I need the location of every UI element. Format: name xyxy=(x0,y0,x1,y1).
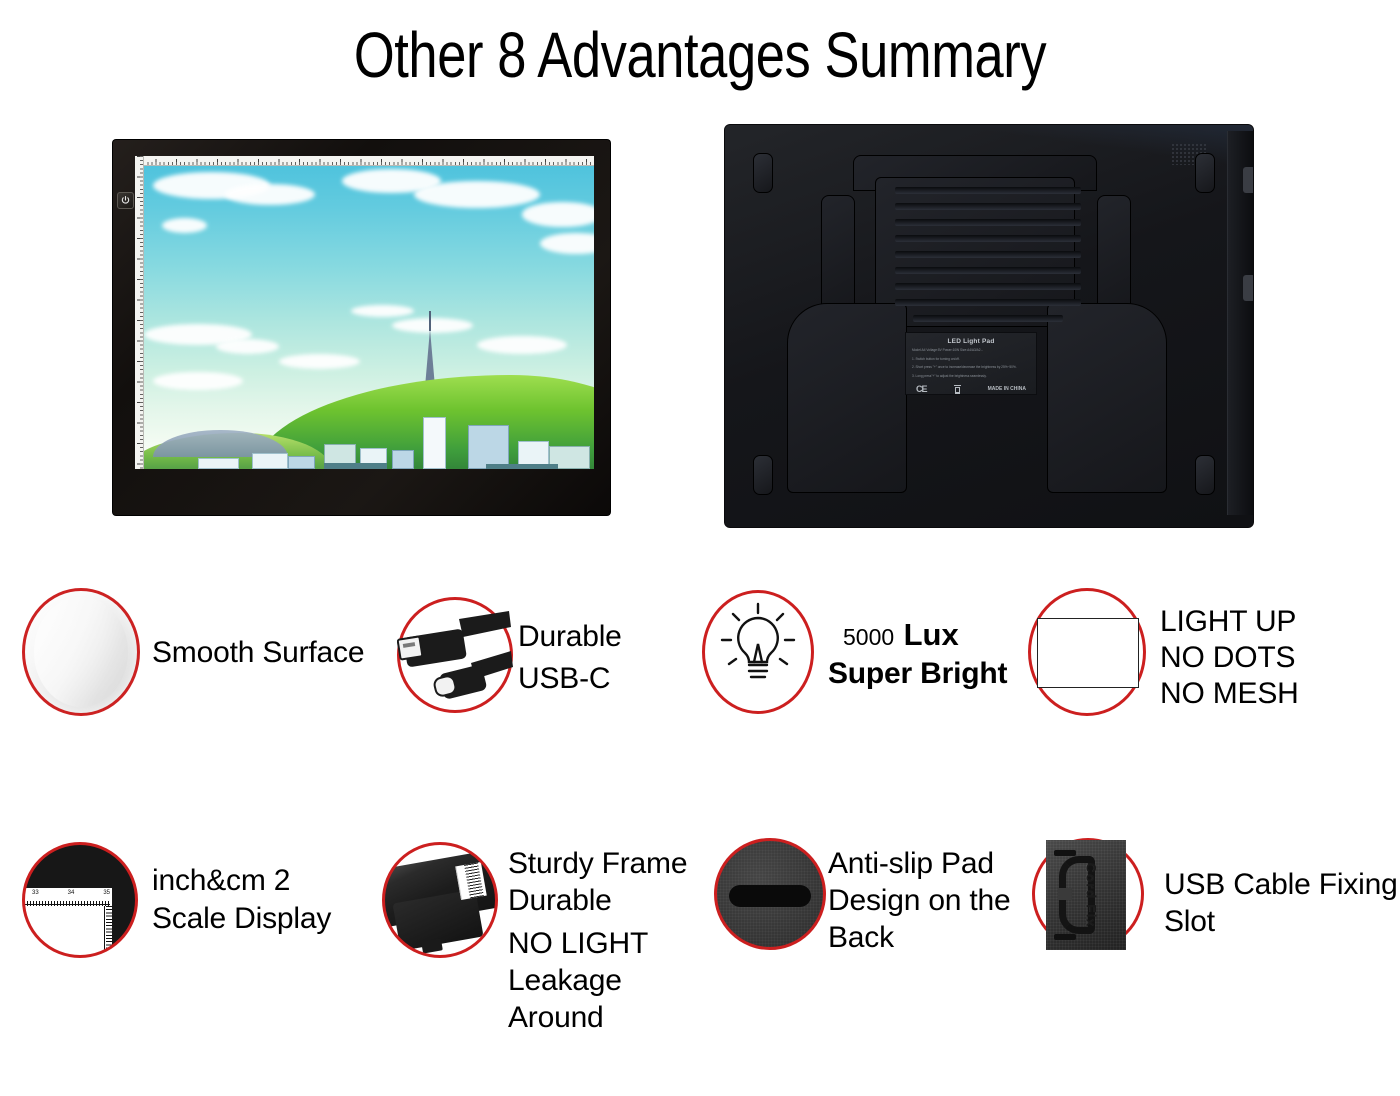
anti-slip-foot xyxy=(1195,455,1215,495)
roof xyxy=(486,464,558,469)
lux-value: 5000 xyxy=(843,624,894,650)
feature-label-design-on-the: Design on the xyxy=(828,882,1011,919)
product-image-back: LED Light Pad Model:A4 Voltage:5V Power:… xyxy=(725,125,1253,527)
label-title: LED Light Pad xyxy=(912,338,1030,345)
building xyxy=(423,417,446,469)
cloud xyxy=(477,336,567,354)
building xyxy=(392,450,415,469)
white-rectangle-icon xyxy=(1037,618,1139,688)
feature-label-antislip-pad: Anti-slip Pad xyxy=(828,845,994,882)
rib xyxy=(895,219,1081,226)
product-label: LED Light Pad Model:A4 Voltage:5V Power:… xyxy=(905,332,1037,395)
smooth-oval-icon xyxy=(22,588,140,716)
page-title: Other 8 Advantages Summary xyxy=(126,18,1274,92)
frame-feature-circle xyxy=(382,842,498,958)
usb-cable-icon xyxy=(397,597,513,713)
feature-label-around: Around xyxy=(508,999,604,1036)
rib xyxy=(895,235,1081,242)
roof xyxy=(324,463,387,469)
infographic-page: Other 8 Advantages Summary xyxy=(0,0,1400,1096)
cloud xyxy=(162,218,207,233)
side-port-top xyxy=(1243,167,1253,193)
label-instruction-1: 1. Switch button for turning on/off. xyxy=(912,357,1030,363)
side-port-bottom xyxy=(1243,275,1253,301)
feature-label-super-bright: Super Bright xyxy=(828,655,1007,692)
feature-label-inch-cm: inch&cm 2 xyxy=(152,862,290,899)
stand-arm-right xyxy=(1097,195,1131,315)
rib xyxy=(895,267,1081,274)
antislip-feature-circle xyxy=(714,838,826,950)
scale-feature-circle xyxy=(22,842,138,958)
label-instruction-2: 2. Short press "+" once to increase/decr… xyxy=(912,365,1030,371)
cord-fix-slot-icon: Cord Fix xyxy=(1046,840,1126,950)
townscape xyxy=(144,402,594,469)
feature-label-sturdy-frame: Sturdy Frame xyxy=(508,845,687,882)
building xyxy=(198,458,239,469)
cloud xyxy=(216,339,279,354)
feature-label-light-up: LIGHT UP xyxy=(1160,603,1296,640)
building xyxy=(468,425,509,469)
rib xyxy=(895,203,1081,210)
product-image-front xyxy=(113,140,610,515)
cloud xyxy=(522,202,594,226)
rib xyxy=(895,187,1081,194)
rib xyxy=(895,299,1081,306)
building xyxy=(252,453,288,469)
anti-slip-foot xyxy=(753,455,773,495)
feature-label-usb-cable-fixing: USB Cable Fixing xyxy=(1164,866,1398,903)
rib xyxy=(913,315,1063,322)
feature-label-no-light: NO LIGHT xyxy=(508,925,648,962)
ce-mark: CE xyxy=(916,384,927,394)
ruler-top xyxy=(135,156,594,166)
lux-unit: Lux xyxy=(904,617,959,652)
feature-label-slot: Slot xyxy=(1164,903,1215,940)
feature-label-usbc: USB-C xyxy=(518,660,610,697)
label-instruction-3: 3. Long press"+" to adjust the brightnes… xyxy=(912,374,1030,380)
origin-text: MADE IN CHINA xyxy=(988,386,1026,392)
label-marks: CE MADE IN CHINA xyxy=(912,384,1030,394)
feature-label-back: Back xyxy=(828,919,894,956)
feature-label-frame-durable: Durable xyxy=(508,882,612,919)
label-spec: Model:A4 Voltage:5V Power:10W Size:A4/A3… xyxy=(912,348,1030,354)
stand-leg-right xyxy=(1047,303,1167,493)
stand-leg-left xyxy=(787,303,907,493)
feature-label-leakage: Leakage xyxy=(508,962,622,999)
feature-label-smooth-surface: Smooth Surface xyxy=(152,634,364,671)
displayed-artwork xyxy=(144,166,594,469)
power-icon[interactable] xyxy=(117,192,134,209)
anti-slip-foot xyxy=(1195,153,1215,193)
feature-label-no-dots: NO DOTS xyxy=(1160,639,1295,676)
feature-label-scale-display: Scale Display xyxy=(152,900,331,937)
weee-bin-icon xyxy=(954,385,961,394)
anti-slip-foot xyxy=(753,153,773,193)
ruler-left xyxy=(135,156,144,469)
cloud xyxy=(279,354,360,369)
building xyxy=(288,456,315,469)
rib xyxy=(895,283,1081,290)
lightbulb-icon xyxy=(702,590,814,714)
lux-value-line: 5000 Lux xyxy=(843,617,959,653)
stand-arm-left xyxy=(821,195,855,315)
cord-fix-text: Cord Fix xyxy=(1084,863,1100,928)
feature-label-no-mesh: NO MESH xyxy=(1160,675,1299,712)
rib xyxy=(895,251,1081,258)
feature-label-durable: Durable xyxy=(518,618,622,655)
